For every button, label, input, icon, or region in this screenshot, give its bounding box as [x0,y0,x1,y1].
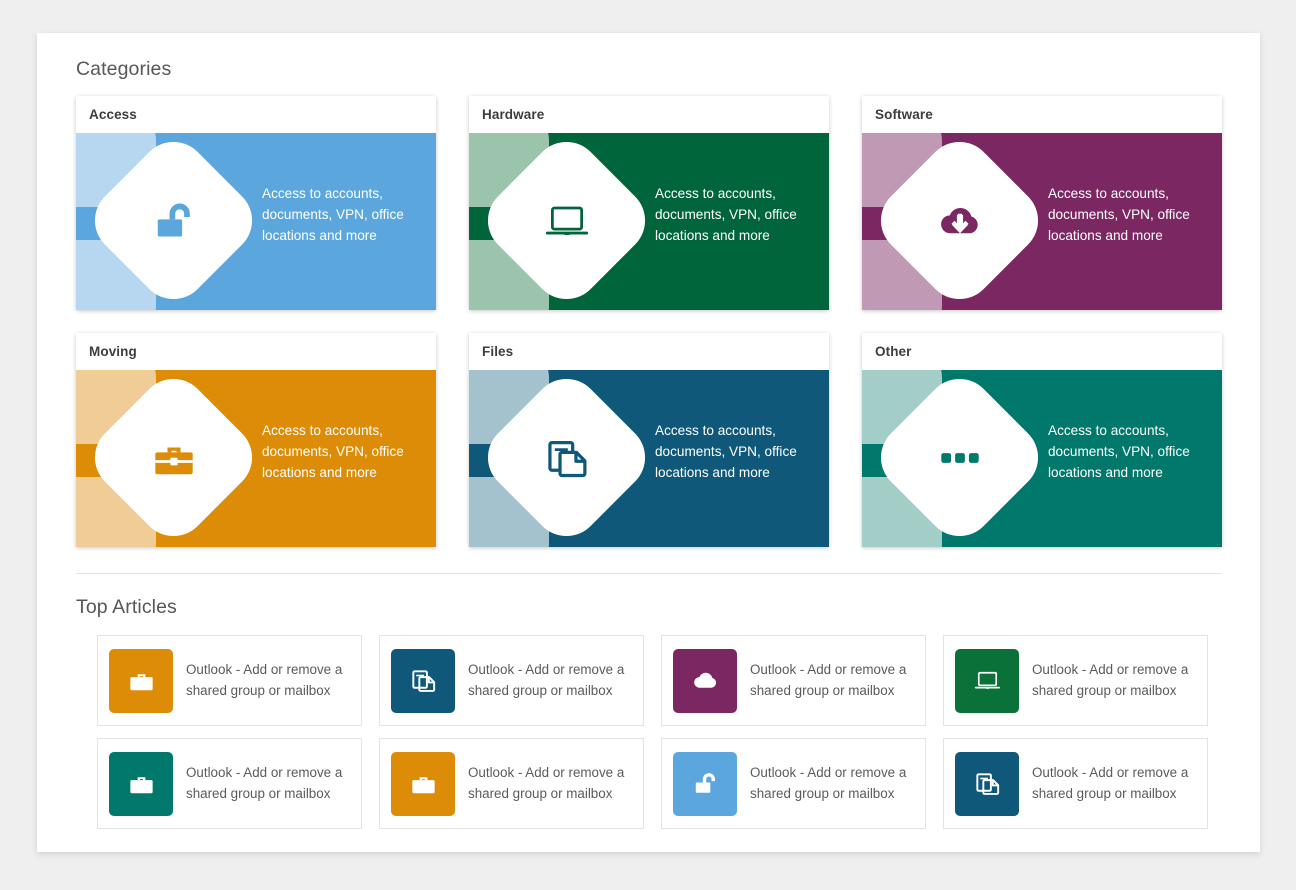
category-card-label: Access [76,96,436,133]
article-title: Outlook - Add or remove a shared group o… [750,763,915,804]
content-panel: Categories AccessAccess to accounts, doc… [37,33,1260,852]
category-card-description: Access to accounts, documents, VPN, offi… [655,420,823,483]
article-card[interactable]: Outlook - Add or remove a shared group o… [661,635,926,726]
article-card[interactable]: Outlook - Add or remove a shared group o… [97,738,362,829]
category-card-software[interactable]: SoftwareAccess to accounts, documents, V… [862,96,1222,310]
category-card-moving[interactable]: MovingAccess to accounts, documents, VPN… [76,333,436,547]
briefcase-icon [109,649,173,713]
category-card-label: Files [469,333,829,370]
documents-icon [955,752,1019,816]
article-title: Outlook - Add or remove a shared group o… [750,660,915,701]
article-card[interactable]: Outlook - Add or remove a shared group o… [661,738,926,829]
category-card-label: Software [862,96,1222,133]
category-card-description: Access to accounts, documents, VPN, offi… [1048,183,1216,246]
laptop-icon [501,155,632,286]
cloud-download-icon [894,155,1025,286]
content-inner: Categories AccessAccess to accounts, doc… [76,33,1221,829]
article-title: Outlook - Add or remove a shared group o… [468,763,633,804]
article-title: Outlook - Add or remove a shared group o… [1032,660,1197,701]
category-card-files[interactable]: FilesAccess to accounts, documents, VPN,… [469,333,829,547]
article-card[interactable]: Outlook - Add or remove a shared group o… [97,635,362,726]
briefcase-icon [109,752,173,816]
top-articles-heading: Top Articles [76,596,1221,619]
briefcase-icon [391,752,455,816]
article-card[interactable]: Outlook - Add or remove a shared group o… [379,738,644,829]
category-card-description: Access to accounts, documents, VPN, offi… [262,183,430,246]
cloud-download-icon [673,649,737,713]
categories-grid: AccessAccess to accounts, documents, VPN… [76,96,1221,547]
article-card[interactable]: Outlook - Add or remove a shared group o… [943,635,1208,726]
unlock-icon [108,155,239,286]
article-card[interactable]: Outlook - Add or remove a shared group o… [379,635,644,726]
category-card-label: Moving [76,333,436,370]
category-card-body: Access to accounts, documents, VPN, offi… [862,133,1222,310]
categories-heading: Categories [76,58,1221,81]
article-title: Outlook - Add or remove a shared group o… [186,660,351,701]
category-card-body: Access to accounts, documents, VPN, offi… [862,370,1222,547]
briefcase-icon [108,392,239,523]
article-title: Outlook - Add or remove a shared group o… [1032,763,1197,804]
article-card[interactable]: Outlook - Add or remove a shared group o… [943,738,1208,829]
section-divider [76,573,1221,574]
category-card-body: Access to accounts, documents, VPN, offi… [469,370,829,547]
category-card-description: Access to accounts, documents, VPN, offi… [1048,420,1216,483]
articles-grid: Outlook - Add or remove a shared group o… [97,635,1221,829]
category-card-other[interactable]: OtherAccess to accounts, documents, VPN,… [862,333,1222,547]
category-card-body: Access to accounts, documents, VPN, offi… [76,133,436,310]
category-card-access[interactable]: AccessAccess to accounts, documents, VPN… [76,96,436,310]
documents-icon [391,649,455,713]
laptop-icon [955,649,1019,713]
article-title: Outlook - Add or remove a shared group o… [186,763,351,804]
category-card-description: Access to accounts, documents, VPN, offi… [262,420,430,483]
unlock-icon [673,752,737,816]
category-card-body: Access to accounts, documents, VPN, offi… [76,370,436,547]
category-card-label: Hardware [469,96,829,133]
category-card-body: Access to accounts, documents, VPN, offi… [469,133,829,310]
category-card-description: Access to accounts, documents, VPN, offi… [655,183,823,246]
category-card-hardware[interactable]: HardwareAccess to accounts, documents, V… [469,96,829,310]
article-title: Outlook - Add or remove a shared group o… [468,660,633,701]
documents-icon [501,392,632,523]
category-card-label: Other [862,333,1222,370]
ellipsis-icon [894,392,1025,523]
